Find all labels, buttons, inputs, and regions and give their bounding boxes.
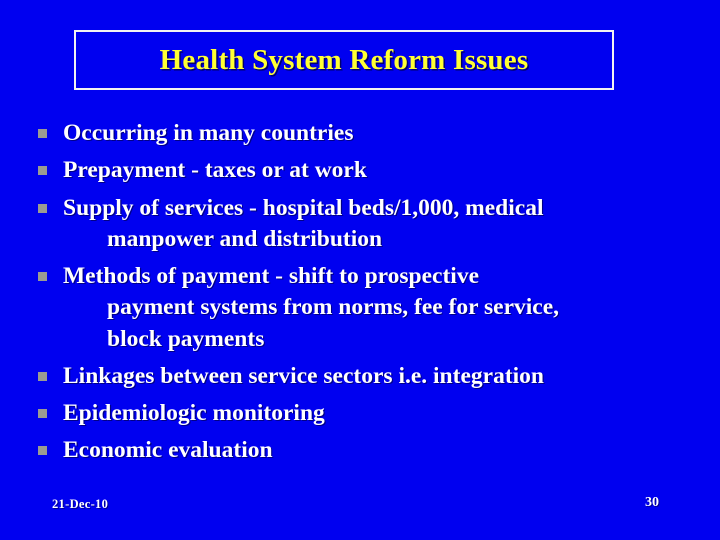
list-item-line-primary: Prepayment - taxes or at work	[63, 157, 367, 183]
list-item-line-continuation: manpower and distribution	[63, 224, 688, 255]
list-item: Epidemiologic monitoring	[38, 398, 688, 429]
list-item-line-primary: Methods of payment - shift to prospectiv…	[63, 263, 479, 289]
page-title: Health System Reform Issues	[160, 46, 529, 75]
list-item: Occurring in many countries	[38, 118, 688, 149]
square-bullet-icon	[38, 166, 47, 175]
list-item-text: Prepayment - taxes or at work	[63, 155, 688, 186]
list-item: Linkages between service sectors i.e. in…	[38, 361, 688, 392]
list-item: Methods of payment - shift to prospectiv…	[38, 261, 688, 355]
list-item: Prepayment - taxes or at work	[38, 155, 688, 186]
square-bullet-icon	[38, 409, 47, 418]
list-item-text: Epidemiologic monitoring	[63, 398, 688, 429]
square-bullet-icon	[38, 272, 47, 281]
square-bullet-icon	[38, 204, 47, 213]
square-bullet-icon	[38, 446, 47, 455]
square-bullet-icon	[38, 372, 47, 381]
list-item-text: Occurring in many countries	[63, 118, 688, 149]
square-bullet-icon	[38, 129, 47, 138]
presentation-slide: Health System Reform Issues Occurring in…	[0, 0, 720, 540]
list-item-text: Supply of services - hospital beds/1,000…	[63, 193, 688, 256]
list-item: Supply of services - hospital beds/1,000…	[38, 193, 688, 256]
list-item: Economic evaluation	[38, 435, 688, 466]
list-item-text: Economic evaluation	[63, 435, 688, 466]
list-item-text: Methods of payment - shift to prospectiv…	[63, 261, 688, 355]
slide-title-box: Health System Reform Issues	[74, 30, 614, 90]
list-item-line-primary: Linkages between service sectors i.e. in…	[63, 363, 544, 389]
list-item-line-continuation: payment systems from norms, fee for serv…	[63, 292, 688, 323]
list-item-line-primary: Economic evaluation	[63, 437, 273, 463]
list-item-text: Linkages between service sectors i.e. in…	[63, 361, 688, 392]
list-item-line-primary: Epidemiologic monitoring	[63, 400, 325, 426]
footer-date: 21-Dec-10	[52, 497, 108, 512]
footer-page-number: 30	[645, 495, 659, 511]
list-item-line-primary: Supply of services - hospital beds/1,000…	[63, 195, 543, 221]
bullet-list: Occurring in many countriesPrepayment - …	[38, 118, 688, 473]
list-item-line-primary: Occurring in many countries	[63, 120, 353, 146]
list-item-line-continuation: block payments	[63, 324, 688, 355]
